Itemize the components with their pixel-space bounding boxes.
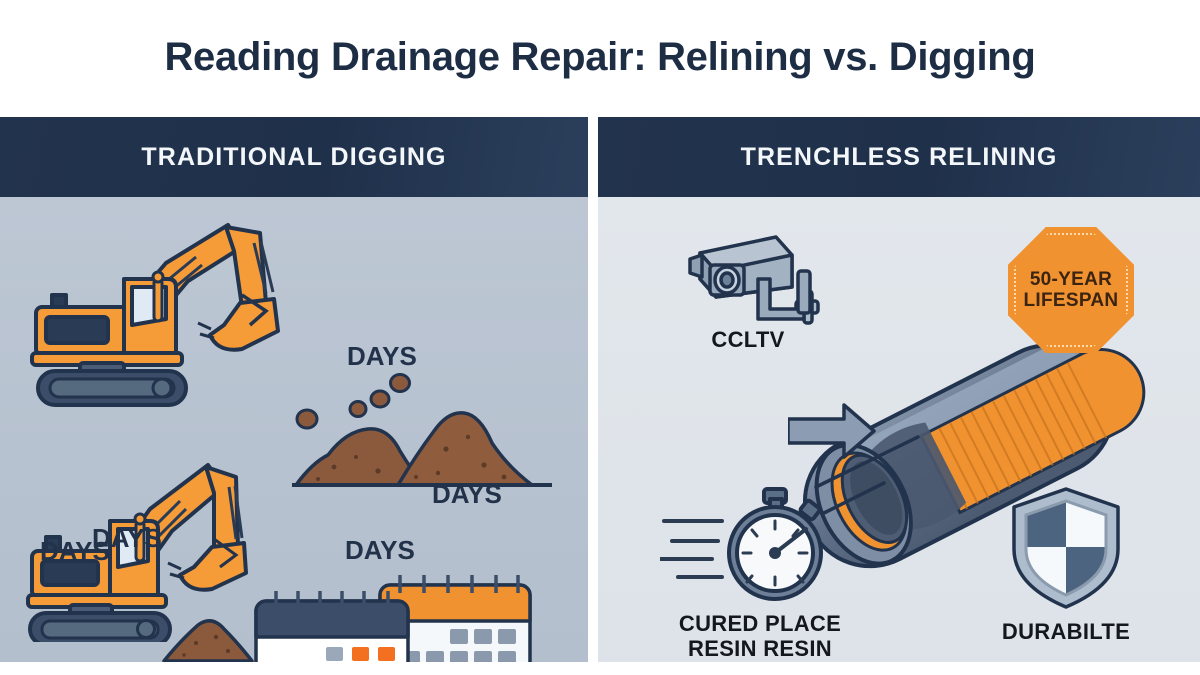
panel-divider: [588, 117, 598, 662]
cctv-camera-icon: [680, 225, 820, 325]
excavator-top-icon: [28, 207, 328, 407]
panel-left-heading: TRADITIONAL DIGGING: [141, 143, 446, 172]
resin-caption-line-1: CURED PLACE: [650, 611, 870, 636]
title-bar: Reading Drainage Repair: Relining vs. Di…: [0, 0, 1200, 114]
days-label: DAYS: [347, 341, 417, 372]
stopwatch-icon: [660, 485, 850, 605]
panel-traditional-digging: TRADITIONAL DIGGING: [0, 117, 588, 662]
lifespan-badge: 50-YEAR LIFESPAN: [1008, 227, 1134, 353]
page-title: Reading Drainage Repair: Relining vs. Di…: [164, 35, 1035, 80]
resin-caption: CURED PLACE RESIN RESIN: [650, 611, 870, 662]
shield-caption: DURABILTE: [986, 619, 1146, 644]
days-label: DAYS: [432, 479, 502, 510]
panel-left-body: DAYS DAYS DAYS DAYS DAYS: [0, 197, 588, 662]
shield-icon: [1006, 485, 1126, 611]
panel-right-heading: TRENCHLESS RELINING: [741, 143, 1058, 172]
badge-line-2: LIFESPAN: [1024, 290, 1119, 311]
infographic-root: Reading Drainage Repair: Relining vs. Di…: [0, 0, 1200, 675]
panel-trenchless-relining: TRENCHLESS RELINING: [598, 117, 1200, 662]
calendar-pair-icon: [250, 567, 540, 662]
dirt-mound-pair-icon: [288, 367, 558, 497]
dirt-pile-small-icon: [158, 615, 258, 662]
days-label: DAYS: [345, 535, 415, 566]
panel-right-header: TRENCHLESS RELINING: [598, 117, 1200, 197]
panel-right-body: 50-YEAR LIFESPAN CCLTV: [598, 197, 1200, 662]
badge-line-1: 50-YEAR: [1030, 269, 1112, 290]
resin-caption-line-2: RESIN RESIN: [650, 636, 870, 661]
days-label: DAYS: [40, 536, 110, 567]
panel-left-header: TRADITIONAL DIGGING: [0, 117, 588, 197]
bottom-strip: [0, 662, 1200, 675]
cctv-caption: CCLTV: [658, 327, 838, 352]
